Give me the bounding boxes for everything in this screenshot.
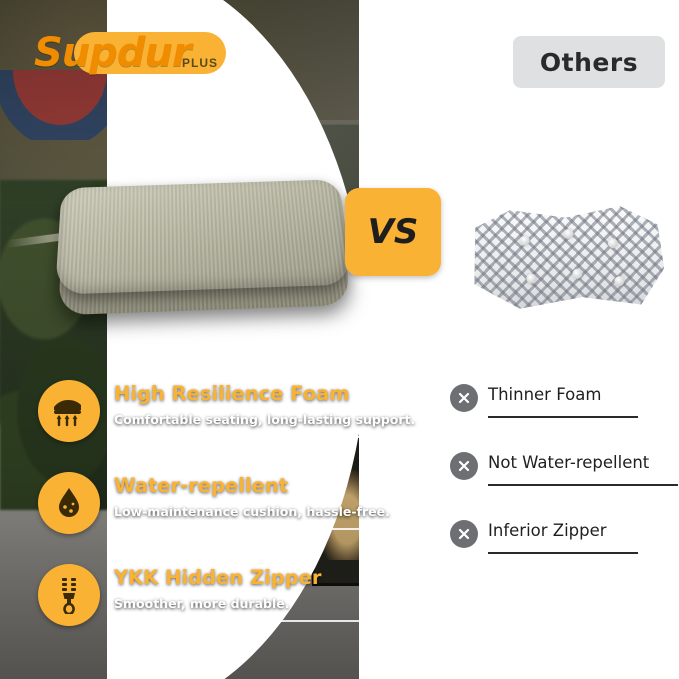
feature-subtitle: Low-maintenance cushion, hassle-free. [114,504,390,519]
vs-label: VS [368,212,419,252]
product-cushion-ours [53,179,357,324]
cross-circle-icon [450,520,478,548]
competitor-cushion-body [467,203,665,311]
feature-divider [114,528,360,530]
feature-title: YKK Hidden Zipper [114,566,322,589]
con-label: Not Water-repellent [488,453,649,472]
feature-list: High Resilience Foam Comfortable seating… [28,374,358,650]
con-label: Thinner Foam [488,385,601,404]
vs-badge: VS [345,188,441,276]
con-item-inferior-zipper: Inferior Zipper [450,518,668,586]
feature-item-water-repellent: Water-repellent Low-maintenance cushion,… [28,466,358,558]
feature-item-ykk-hidden-zipper: YKK Hidden Zipper Smoother, more durable… [28,558,358,650]
feature-divider [114,436,360,438]
con-item-thinner-foam: Thinner Foam [450,382,668,450]
cross-circle-icon [450,452,478,480]
feature-subtitle: Comfortable seating, long-lasting suppor… [114,412,415,427]
logo-wordmark: Supdur [34,30,191,76]
feature-divider [114,620,360,622]
cons-list: Thinner Foam Not Water-repellent [450,382,668,586]
feature-subtitle: Smoother, more durable. [114,596,290,611]
others-header-badge: Others [513,36,665,88]
foam-support-icon [38,380,100,442]
feature-item-high-resilience-foam: High Resilience Foam Comfortable seating… [28,374,358,466]
water-droplet-icon [38,472,100,534]
product-cushion-theirs [467,203,665,311]
comparison-infographic: ★ Supdur PLUS Others VS [0,0,679,679]
cushion-top-surface [55,179,353,294]
con-divider [488,552,638,554]
con-label: Inferior Zipper [488,521,607,540]
logo-plus-label: PLUS [182,56,218,70]
feature-title: Water-repellent [114,474,288,497]
brand-logo: Supdur PLUS [22,26,232,82]
cushion-tuft [520,236,530,246]
con-divider [488,416,638,418]
con-divider [488,484,678,486]
con-item-not-water-repellent: Not Water-repellent [450,450,668,518]
others-header-label: Others [540,48,638,77]
cross-circle-icon [450,384,478,412]
feature-title: High Resilience Foam [114,382,350,405]
zipper-icon [38,564,100,626]
